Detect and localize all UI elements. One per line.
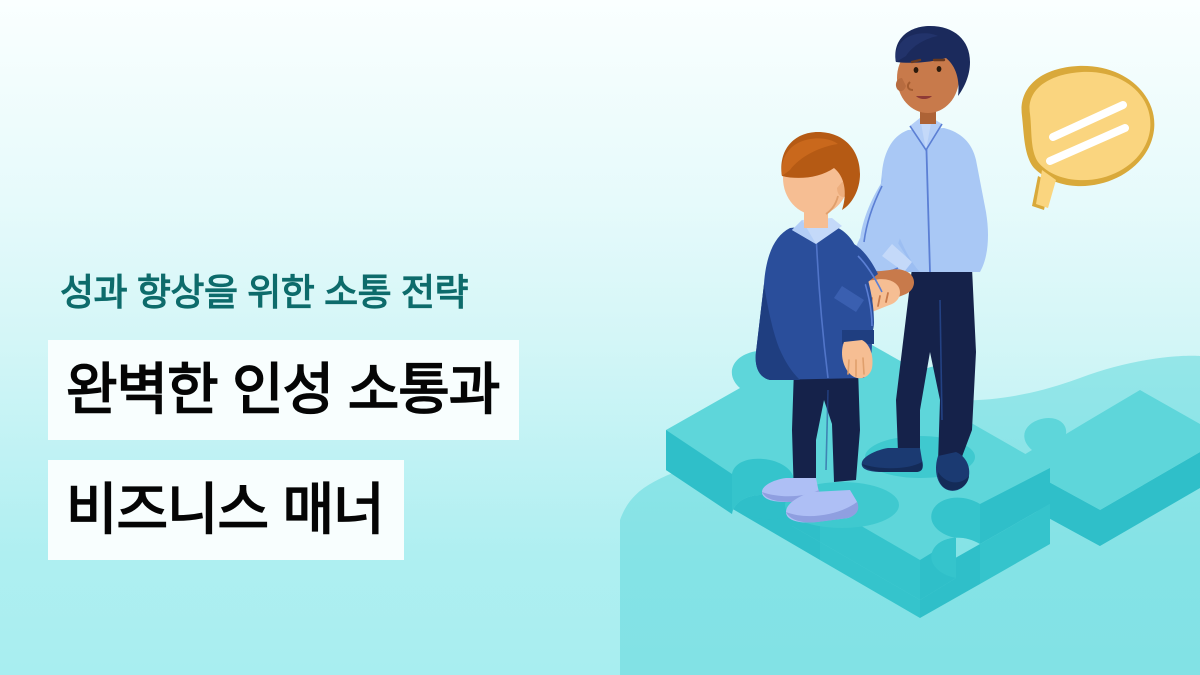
speech-bubble [1022,66,1155,210]
handshake-puzzle-illustration [620,0,1200,675]
banner-title-line-1: 완벽한 인성 소통과 [48,340,519,440]
text-block: 성과 향상을 위한 소통 전략 완벽한 인성 소통과 비즈니스 매너 [0,270,700,560]
title-row-1: 완벽한 인성 소통과 [0,316,700,440]
banner-subtitle: 성과 향상을 위한 소통 전략 [0,270,700,316]
title-row-2: 비즈니스 매너 [0,440,700,560]
banner-title-line-2: 비즈니스 매너 [48,460,404,560]
promo-banner: 성과 향상을 위한 소통 전략 완벽한 인성 소통과 비즈니스 매너 [0,0,1200,675]
